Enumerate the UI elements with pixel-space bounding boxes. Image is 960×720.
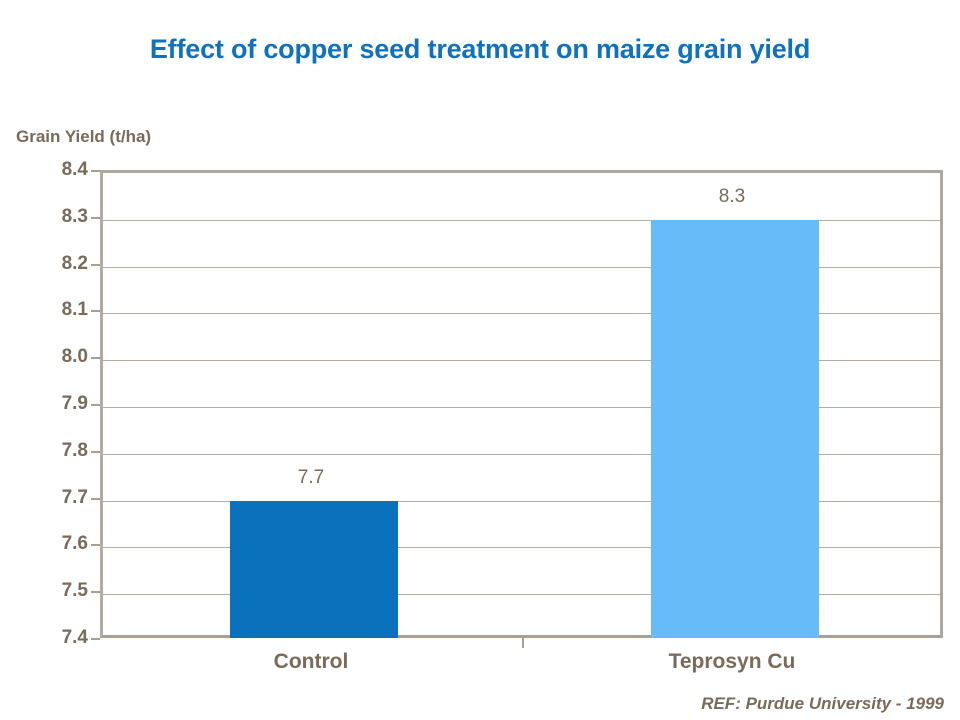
- bar-teprosyn-cu[interactable]: [651, 220, 819, 638]
- y-tick-mark: [91, 310, 100, 312]
- y-tick-mark: [91, 264, 100, 266]
- x-tick-mark: [522, 638, 524, 648]
- x-tick-label-teprosyn-cu: Teprosyn Cu: [582, 651, 882, 672]
- bar-value-label: 7.7: [227, 468, 395, 487]
- y-tick-label: 7.4: [62, 628, 88, 647]
- x-tick-label-control: Control: [161, 651, 461, 672]
- y-tick-mark: [91, 451, 100, 453]
- y-tick-mark: [91, 498, 100, 500]
- y-tick-label: 8.1: [62, 300, 88, 319]
- y-tick-mark: [91, 591, 100, 593]
- y-tick-label: 7.8: [62, 441, 88, 460]
- y-axis-title: Grain Yield (t/ha): [16, 127, 151, 147]
- y-tick-label: 8.2: [62, 254, 88, 273]
- y-tick-mark: [91, 170, 100, 172]
- y-tick-label: 8.4: [62, 160, 88, 179]
- y-tick-label: 7.6: [62, 534, 88, 553]
- reference-note: REF: Purdue University - 1999: [701, 694, 944, 714]
- y-tick-mark: [91, 638, 100, 640]
- y-tick-label: 8.3: [62, 207, 88, 226]
- y-tick-mark: [91, 404, 100, 406]
- y-tick-mark: [91, 544, 100, 546]
- bar-control[interactable]: [230, 501, 398, 638]
- y-tick-label: 7.9: [62, 394, 88, 413]
- plot-area: [100, 170, 943, 638]
- y-tick-mark: [91, 217, 100, 219]
- chart-title: Effect of copper seed treatment on maize…: [0, 34, 960, 65]
- y-tick-mark: [91, 357, 100, 359]
- y-tick-label: 7.5: [62, 581, 88, 600]
- y-tick-label: 8.0: [62, 347, 88, 366]
- bar-value-label: 8.3: [648, 187, 816, 206]
- y-tick-label: 7.7: [62, 488, 88, 507]
